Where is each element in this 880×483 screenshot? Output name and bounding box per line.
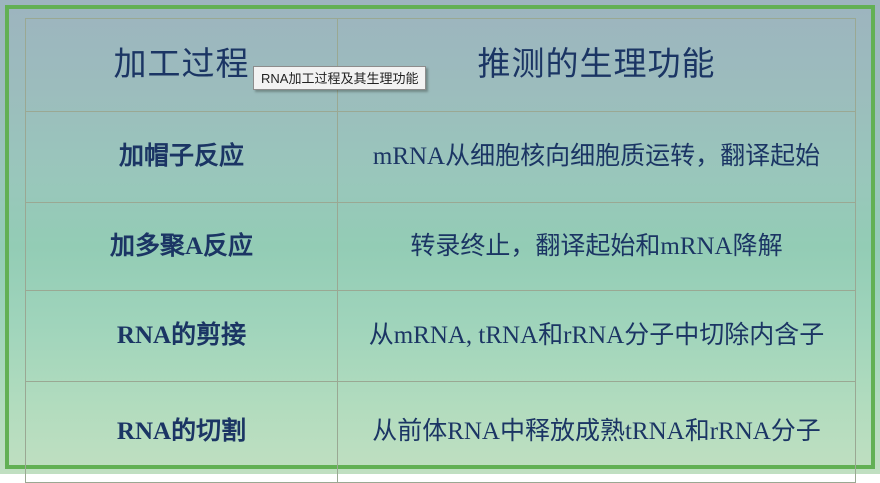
process-label: 加多聚A反应 [110, 233, 253, 260]
cell-process: 加多聚A反应 [26, 203, 338, 291]
function-label: 从mRNA, tRNA和rRNA分子中切除内含子 [369, 322, 825, 349]
table-row: 加帽子反应 mRNA从细胞核向细胞质运转，翻译起始 [26, 112, 856, 203]
rna-processing-table: 加工过程 推测的生理功能 加帽子反应 mRNA从细胞核向细胞质运转，翻译起始 [25, 18, 856, 483]
cell-process: RNA的切割 [26, 382, 338, 483]
cell-function: 从前体RNA中释放成熟tRNA和rRNA分子 [338, 382, 856, 483]
slide-canvas: 加工过程 推测的生理功能 加帽子反应 mRNA从细胞核向细胞质运转，翻译起始 [0, 0, 880, 474]
function-label: 转录终止，翻译起始和mRNA降解 [410, 233, 782, 260]
table-row: RNA的剪接 从mRNA, tRNA和rRNA分子中切除内含子 [26, 291, 856, 382]
process-label: 加帽子反应 [119, 143, 244, 170]
header-label-function: 推测的生理功能 [478, 47, 716, 83]
cell-process: 加帽子反应 [26, 112, 338, 203]
rna-processing-table-container: 加工过程 推测的生理功能 加帽子反应 mRNA从细胞核向细胞质运转，翻译起始 [25, 18, 855, 458]
table-row: 加多聚A反应 转录终止，翻译起始和mRNA降解 [26, 203, 856, 291]
table-header-row: 加工过程 推测的生理功能 [26, 19, 856, 112]
cell-function: mRNA从细胞核向细胞质运转，翻译起始 [338, 112, 856, 203]
process-label: RNA的切割 [117, 418, 246, 445]
function-label: mRNA从细胞核向细胞质运转，翻译起始 [373, 143, 820, 170]
header-cell-function: 推测的生理功能 [338, 19, 856, 112]
tooltip: RNA加工过程及其生理功能 [253, 66, 426, 90]
table-row: RNA的切割 从前体RNA中释放成熟tRNA和rRNA分子 [26, 382, 856, 483]
cell-function: 从mRNA, tRNA和rRNA分子中切除内含子 [338, 291, 856, 382]
cell-function: 转录终止，翻译起始和mRNA降解 [338, 203, 856, 291]
cell-process: RNA的剪接 [26, 291, 338, 382]
process-label: RNA的剪接 [117, 322, 246, 349]
function-label: 从前体RNA中释放成熟tRNA和rRNA分子 [372, 418, 821, 445]
header-label-process: 加工过程 [114, 47, 250, 83]
header-cell-process: 加工过程 [26, 19, 338, 112]
